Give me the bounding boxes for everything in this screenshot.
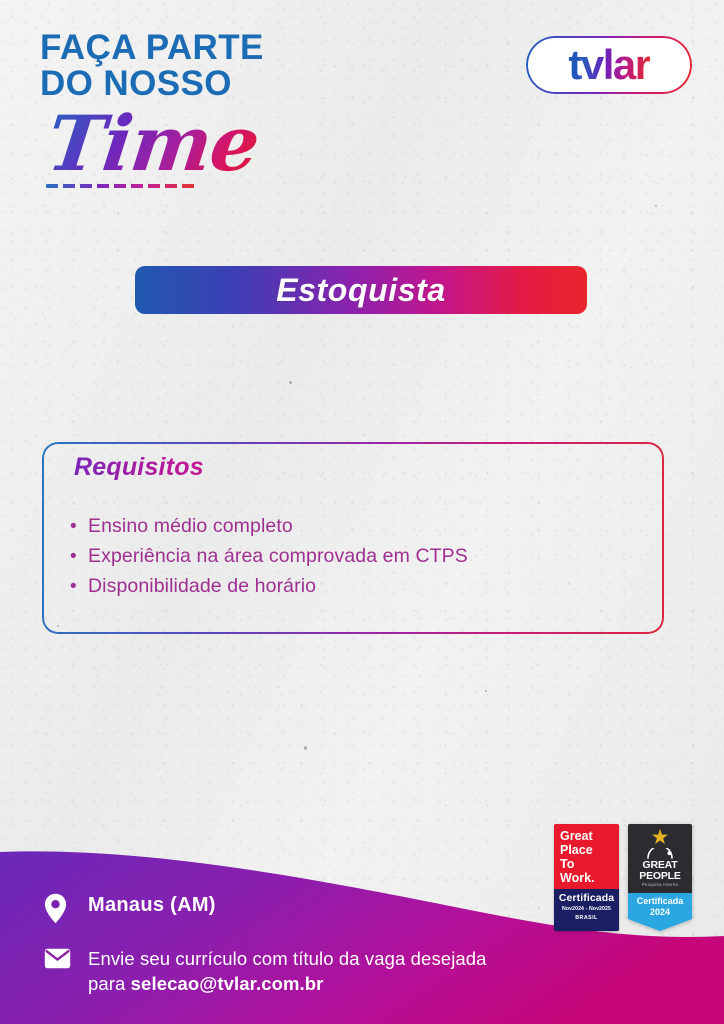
gptw-validity-dates: Nov2024 - Nov2025 (556, 906, 617, 912)
gptw-title-line: Work. (560, 871, 615, 885)
tvlar-logo: tvlar (526, 36, 692, 94)
requirement-item: • Disponibilidade de horário (70, 572, 468, 602)
headline-line-2: DO NOSSO (40, 66, 470, 102)
email-instruction-line1: Envie seu currículo com título da vaga d… (88, 948, 487, 969)
gptw-country-label: BRASIL (556, 915, 617, 921)
email-instruction: Envie seu currículo com título da vaga d… (88, 946, 487, 996)
headline-script-word: Time (44, 108, 263, 180)
gp-header: ★ GREAT PEOPLE Pesquisa Interna (628, 824, 692, 893)
envelope-icon (44, 946, 88, 969)
bullet-icon: • (70, 543, 88, 572)
requirements-list: • Ensino médio completo • Experiência na… (70, 512, 468, 602)
gptw-certified-label: Certificada (556, 892, 617, 904)
paper-speck (289, 381, 292, 384)
requirement-item: • Ensino médio completo (70, 512, 468, 542)
paper-speck (655, 205, 657, 207)
map-pin-icon (44, 891, 88, 924)
requirement-text: Ensino médio completo (88, 512, 293, 542)
headline-line-1: FAÇA PARTE (40, 30, 470, 66)
requirement-text: Disponibilidade de horário (88, 572, 316, 602)
gptw-ribbon-notch (556, 923, 619, 931)
gp-certified-label: Certificada (630, 897, 690, 907)
gp-certification: Certificada 2024 (628, 893, 692, 919)
gptw-title-line: Place (560, 843, 615, 857)
gp-shield-point (628, 919, 692, 931)
gptw-title-line: Great (560, 829, 615, 843)
role-title-banner: Estoquista (135, 266, 587, 314)
contact-block: Manaus (AM) Envie seu currículo com títu… (44, 891, 564, 996)
bullet-icon: • (70, 573, 88, 602)
star-icon: ★ (631, 828, 689, 848)
gptw-title-line: To (560, 857, 615, 871)
email-address: selecao@tvlar.com.br (131, 973, 324, 994)
arc-icon (646, 848, 674, 859)
bullet-icon: • (70, 513, 88, 542)
requirement-text: Experiência na área comprovada em CTPS (88, 542, 468, 572)
job-posting-poster: FAÇA PARTE DO NOSSO Time tvlar Estoquist… (0, 0, 724, 1024)
dashed-rule-divider (46, 184, 196, 188)
role-title: Estoquista (276, 272, 446, 309)
paper-speck (485, 690, 487, 692)
paper-speck (304, 746, 307, 750)
gp-subtitle: Pesquisa Interna (631, 882, 689, 887)
gp-title-line: PEOPLE (631, 871, 689, 882)
email-row: Envie seu currículo com título da vaga d… (44, 946, 564, 996)
gptw-title: Great Place To Work. (554, 824, 619, 889)
location-row: Manaus (AM) (44, 891, 564, 924)
requirements-heading: Requisitos (74, 453, 204, 482)
certification-badges: Great Place To Work. Certificada Nov2024… (554, 824, 692, 931)
requirements-card: Requisitos • Ensino médio completo • Exp… (42, 442, 664, 634)
gp-year-label: 2024 (630, 907, 690, 918)
badge-great-people: ★ GREAT PEOPLE Pesquisa Interna Certific… (628, 824, 692, 931)
requirement-item: • Experiência na área comprovada em CTPS (70, 542, 468, 572)
location-label: Manaus (AM) (88, 891, 216, 916)
email-instruction-prefix: para (88, 973, 131, 994)
headline-block: FAÇA PARTE DO NOSSO Time (40, 30, 470, 188)
tvlar-logo-text: tvlar (568, 44, 649, 86)
